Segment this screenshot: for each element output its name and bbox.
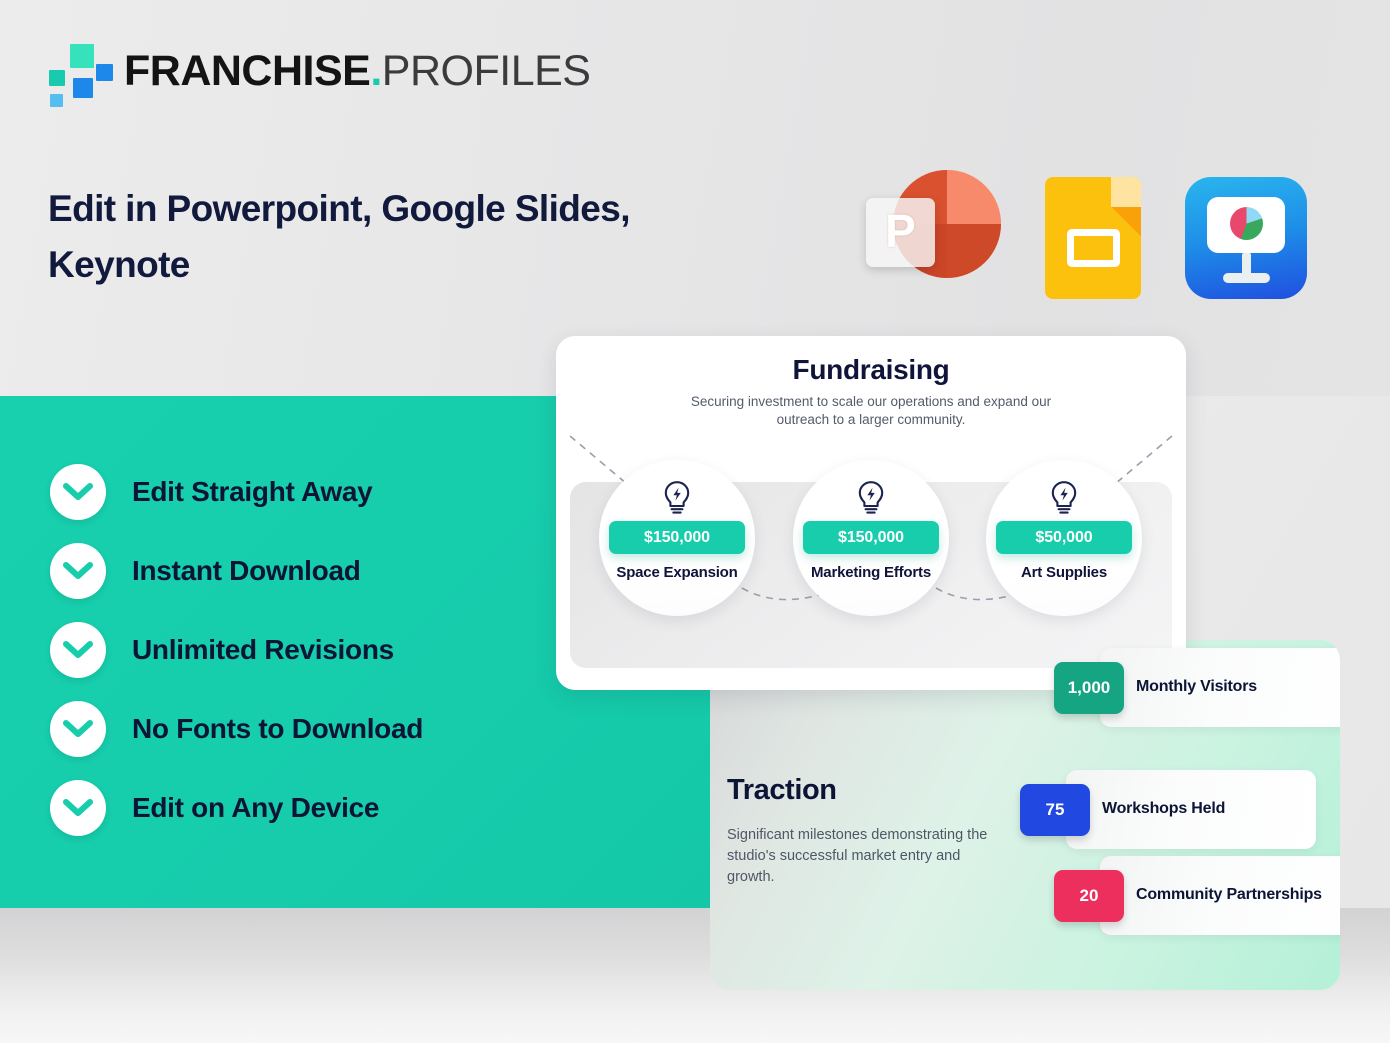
traction-slide-card[interactable]: Traction Significant milestones demonstr…	[710, 640, 1340, 990]
stat-label: Workshops Held	[1102, 799, 1225, 819]
traction-subtitle: Significant milestones demonstrating the…	[727, 825, 989, 888]
stat-panel: Workshops Held	[1066, 770, 1316, 849]
brand-logo[interactable]: FRANCHISE.PROFILES	[48, 42, 590, 100]
google-slides-icon	[1045, 177, 1141, 299]
feature-label: Edit on Any Device	[132, 792, 379, 824]
fundraising-item-1[interactable]: $150,000 Marketing Efforts	[793, 460, 949, 616]
traction-stat-row: 75 Workshops Held	[1020, 770, 1316, 849]
feature-label: Edit Straight Away	[132, 476, 372, 508]
page-title: Edit in Powerpoint, Google Slides, Keyno…	[48, 181, 748, 292]
brand-name-bold: FRANCHISE	[124, 47, 370, 95]
stat-label: Monthly Visitors	[1136, 677, 1257, 697]
keynote-pie-glyph	[1230, 207, 1263, 240]
status-badge: 75	[1020, 784, 1090, 836]
app-icon-row: P	[866, 170, 1307, 305]
brand-name-dot: .	[370, 47, 381, 95]
stat-panel: Community Partnerships	[1100, 856, 1340, 935]
feature-item-4[interactable]: Edit on Any Device	[50, 780, 423, 836]
feature-item-3[interactable]: No Fonts to Download	[50, 701, 423, 757]
item-label: Marketing Efforts	[796, 564, 946, 582]
powerpoint-letter-tile: P	[866, 198, 935, 267]
stat-label: Community Partnerships	[1136, 885, 1322, 905]
feature-item-1[interactable]: Instant Download	[50, 543, 423, 599]
traction-title: Traction	[727, 774, 837, 807]
chevron-down-icon	[50, 543, 106, 599]
chevron-down-icon	[50, 780, 106, 836]
brand-name-light: PROFILES	[382, 47, 591, 95]
feature-label: Unlimited Revisions	[132, 634, 394, 666]
lightbulb-bolt-icon	[856, 480, 886, 521]
five-squares-mark	[48, 42, 108, 100]
chevron-down-icon	[50, 622, 106, 678]
slides-frame-glyph	[1067, 229, 1120, 267]
keynote-icon	[1185, 177, 1307, 299]
feature-item-0[interactable]: Edit Straight Away	[50, 464, 423, 520]
chevron-down-icon	[50, 464, 106, 520]
amount-badge: $150,000	[803, 521, 939, 554]
item-label: Space Expansion	[602, 564, 752, 582]
lightbulb-bolt-icon	[662, 480, 692, 521]
fundraising-slide-card[interactable]: Fundraising Securing investment to scale…	[556, 336, 1186, 690]
powerpoint-letter: P	[885, 208, 916, 254]
amount-badge: $150,000	[609, 521, 745, 554]
status-badge: 20	[1054, 870, 1124, 922]
chevron-down-icon	[50, 701, 106, 757]
feature-label: Instant Download	[132, 555, 361, 587]
feature-item-2[interactable]: Unlimited Revisions	[50, 622, 423, 678]
feature-label: No Fonts to Download	[132, 713, 423, 745]
fundraising-item-0[interactable]: $150,000 Space Expansion	[599, 460, 755, 616]
traction-stat-row: 20 Community Partnerships	[1054, 856, 1340, 935]
status-badge: 1,000	[1054, 662, 1124, 714]
stat-panel: Monthly Visitors	[1100, 648, 1340, 727]
powerpoint-icon: P	[866, 170, 1001, 305]
feature-list: Edit Straight Away Instant Download Unli…	[50, 464, 423, 859]
brand-wordmark: FRANCHISE.PROFILES	[124, 50, 590, 93]
slide-canvas: FRANCHISE.PROFILES Edit in Powerpoint, G…	[0, 0, 1390, 1043]
amount-badge: $50,000	[996, 521, 1132, 554]
lightbulb-bolt-icon	[1049, 480, 1079, 521]
fundraising-item-2[interactable]: $50,000 Art Supplies	[986, 460, 1142, 616]
item-label: Art Supplies	[989, 564, 1139, 582]
